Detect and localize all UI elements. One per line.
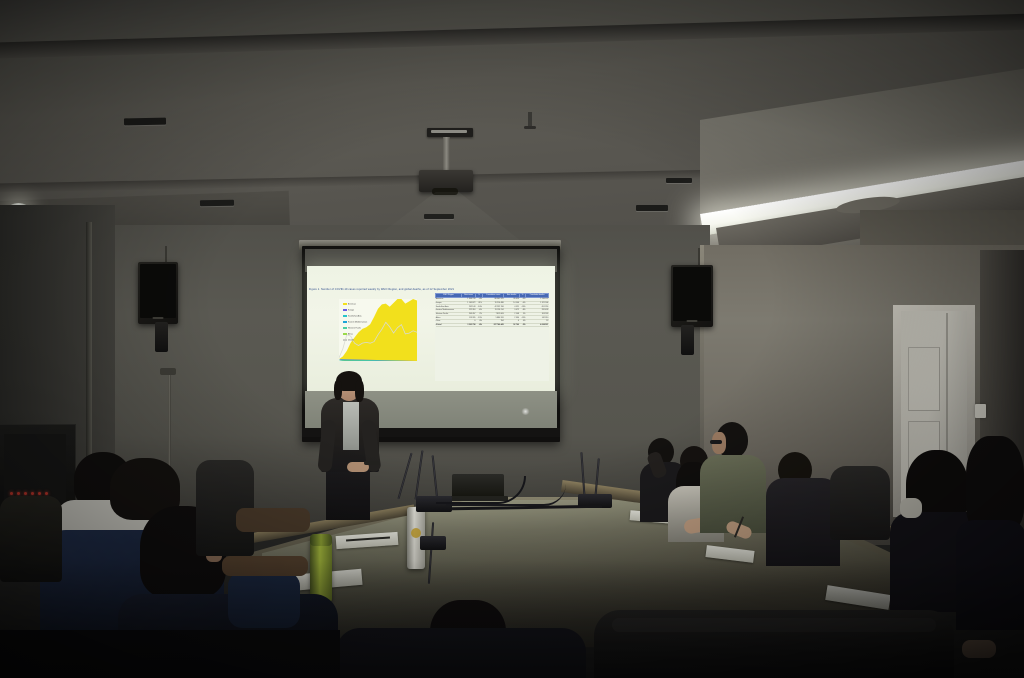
presenter-hair-right [355,380,364,402]
table-cell: 3 303 798 [461,323,475,327]
sprinkler-head-icon [524,126,536,129]
light-switch-plate[interactable] [975,404,986,418]
attendee-6-hand [962,640,996,658]
speaker-badge [687,320,698,322]
chair-headrest [612,618,936,632]
presenter-legs [326,468,370,520]
speaker-badge [153,317,164,319]
projector-pole [443,137,450,172]
table-cell: -8% [476,323,483,327]
office-chair [830,466,890,540]
ceiling-vent-icon [200,200,234,207]
table-cell: 52 760 [504,323,519,327]
speaker-grille [140,264,176,318]
table-cell: 4 634 521 [526,323,549,327]
table-cell: 227 740 443 [482,323,504,327]
microphone-base [420,536,446,550]
conference-room-photo: Figure 1. Number of COVID-19 cases repor… [0,0,1024,678]
attendee-6-hair [966,436,1024,532]
slide-content: Figure 1. Number of COVID-19 cases repor… [309,288,553,384]
attendee-5-collar [900,498,922,518]
table-cell: Global [436,323,462,327]
glasses-icon [710,440,722,444]
wall-speaker-left [138,262,178,324]
wall-speaker-right [671,265,713,327]
presentation-clicker [364,461,380,465]
presenter-shirt [343,402,359,450]
projector-mount-highlight [431,130,467,133]
slide-table: WHO Region New cases % Cumulative cases … [435,293,549,381]
ceiling-vent-icon [636,205,668,211]
office-chair [0,496,62,582]
ceiling-vent-icon [666,178,692,183]
door-panel-upper [908,347,940,411]
slide-title: Figure 1. Number of COVID-19 cases repor… [309,288,553,291]
table-row: Global3 303 798-8%227 740 44352 760-5%4 … [436,323,549,327]
thermos-cap [310,534,332,546]
attendee-6-body [956,520,1024,630]
cable-bundle [446,484,566,506]
chair-armrest [222,556,308,576]
speaker-grille [673,267,711,321]
foreground-chair [0,630,340,678]
attendee-9-arm [228,572,300,628]
attendee-4-body [766,478,840,566]
projector-lens-icon [432,188,458,195]
chair-armrest [236,508,310,532]
floor-stand-head [160,368,176,375]
speaker-bracket-left [155,322,168,352]
ceiling-vent-icon [124,118,166,126]
presenter-hair-left [334,380,342,400]
slide-chart: 6M 5M 4M 3M 2M 1M 0 Americas Europe Sout… [313,295,429,379]
ceiling-vent-icon [424,214,454,219]
data-table: WHO Region New cases % Cumulative cases … [435,293,549,327]
speaker-bracket-right [681,325,694,355]
table-cell: -5% [519,323,526,327]
speaker-wire [698,248,700,266]
attendee-10-body [336,628,586,678]
table-body: Americas1 306 743-4%86 361 92526 019-3%2… [436,297,549,327]
screen-glare [521,408,530,415]
